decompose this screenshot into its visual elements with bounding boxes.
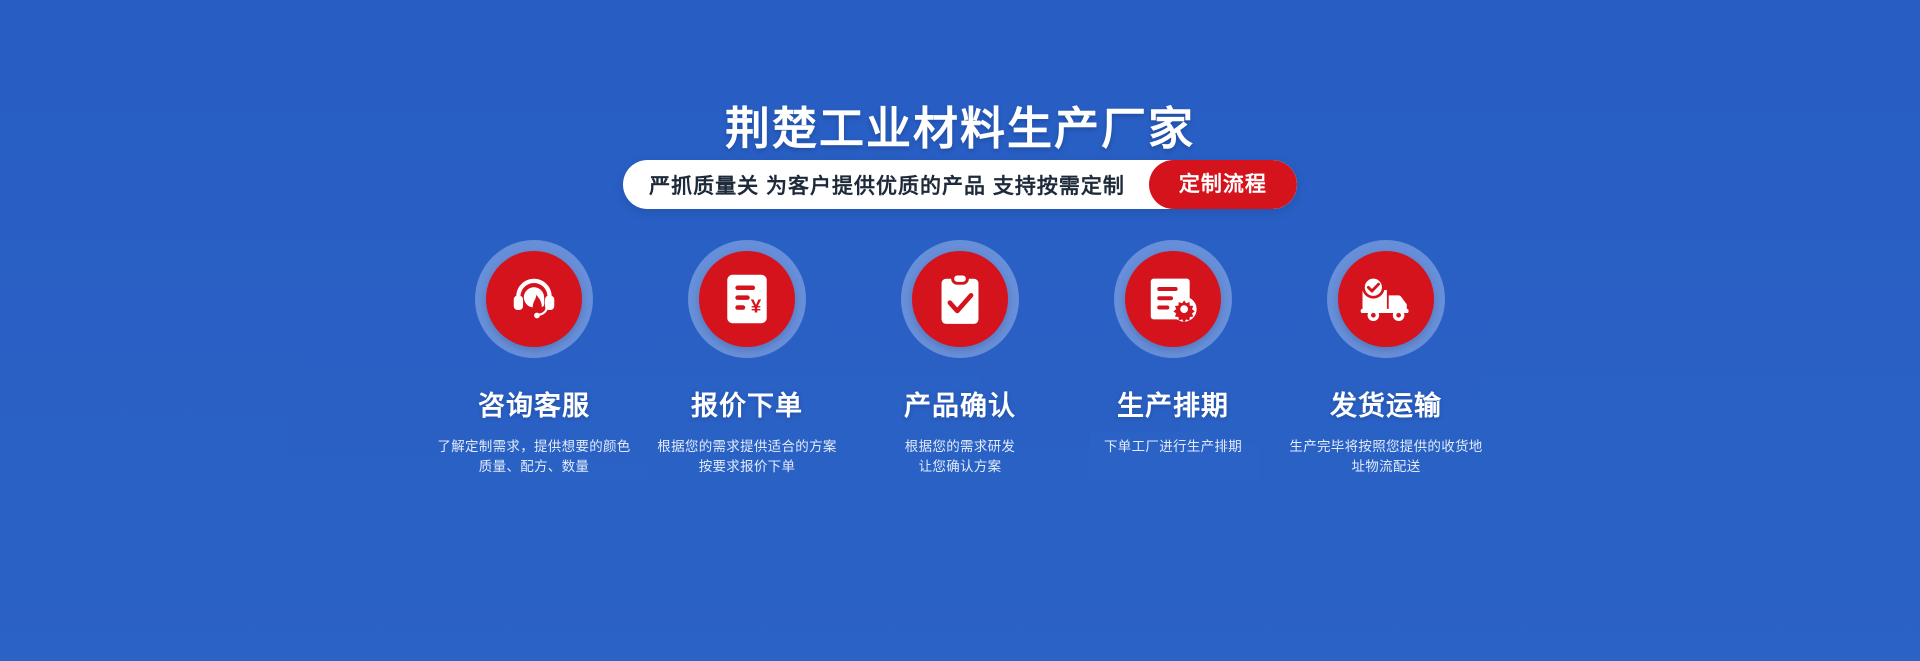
banner-content: 荆楚工业材料生产厂家 严抓质量关 为客户提供优质的产品 支持按需定制 定制流程	[0, 0, 1920, 661]
custom-process-button[interactable]: 定制流程	[1149, 160, 1297, 209]
step-description-line2: 按要求报价下单	[641, 457, 854, 477]
step-description: 了解定制需求，提供想要的颜色 质量、配方、数量	[428, 437, 641, 477]
step-title: 报价下单	[641, 384, 854, 423]
step-icon-ring	[901, 240, 1019, 358]
promo-banner: 荆楚工业材料生产厂家 严抓质量关 为客户提供优质的产品 支持按需定制 定制流程	[0, 0, 1920, 661]
step-title: 产品确认	[854, 384, 1067, 423]
step-description-line2: 址物流配送	[1280, 457, 1493, 477]
step-title: 生产排期	[1067, 384, 1280, 423]
step-icon-circle	[486, 251, 582, 347]
step-icon-ring	[1327, 240, 1445, 358]
step-icon-ring: ¥	[688, 240, 806, 358]
step-description-line2: 让您确认方案	[854, 457, 1067, 477]
step-description: 根据您的需求提供适合的方案 按要求报价下单	[641, 437, 854, 477]
step-icon-circle	[1338, 251, 1434, 347]
step-description-line2: 质量、配方、数量	[428, 457, 641, 477]
quote-invoice-yuan-icon: ¥	[723, 273, 771, 325]
step-title: 咨询客服	[428, 384, 641, 423]
headset-support-icon	[507, 272, 561, 326]
step-icon-ring	[475, 240, 593, 358]
tagline-bar: 严抓质量关 为客户提供优质的产品 支持按需定制 定制流程	[0, 160, 1920, 209]
step-title: 发货运输	[1280, 384, 1493, 423]
process-step-5[interactable]: 发货运输 生产完毕将按照您提供的收货地 址物流配送	[1280, 240, 1493, 477]
tagline-text: 严抓质量关 为客户提供优质的产品 支持按需定制	[649, 170, 1149, 200]
step-description: 根据您的需求研发 让您确认方案	[854, 437, 1067, 477]
step-description-line1: 下单工厂进行生产排期	[1067, 437, 1280, 457]
process-step-1[interactable]: 咨询客服 了解定制需求，提供想要的颜色 质量、配方、数量	[428, 240, 641, 477]
step-description-line1: 了解定制需求，提供想要的颜色	[428, 437, 641, 457]
clipboard-check-icon	[936, 272, 984, 326]
step-icon-circle	[912, 251, 1008, 347]
process-steps: 咨询客服 了解定制需求，提供想要的颜色 质量、配方、数量	[0, 240, 1920, 477]
tagline-pill: 严抓质量关 为客户提供优质的产品 支持按需定制 定制流程	[623, 160, 1297, 209]
page-title: 荆楚工业材料生产厂家	[0, 92, 1920, 157]
step-description-line1: 生产完毕将按照您提供的收货地	[1280, 437, 1493, 457]
step-icon-circle	[1125, 251, 1221, 347]
process-step-2[interactable]: ¥ 报价下单 根据您的需求提供适合的方案 按要求报价下单	[641, 240, 854, 477]
step-description: 下单工厂进行生产排期	[1067, 437, 1280, 457]
delivery-truck-check-icon	[1358, 275, 1414, 323]
document-gear-icon	[1148, 274, 1198, 324]
svg-text:¥: ¥	[751, 295, 762, 316]
process-step-3[interactable]: 产品确认 根据您的需求研发 让您确认方案	[854, 240, 1067, 477]
step-description-line1: 根据您的需求提供适合的方案	[641, 437, 854, 457]
process-step-4[interactable]: 生产排期 下单工厂进行生产排期	[1067, 240, 1280, 457]
step-description: 生产完毕将按照您提供的收货地 址物流配送	[1280, 437, 1493, 477]
step-description-line1: 根据您的需求研发	[854, 437, 1067, 457]
step-icon-ring	[1114, 240, 1232, 358]
step-icon-circle: ¥	[699, 251, 795, 347]
